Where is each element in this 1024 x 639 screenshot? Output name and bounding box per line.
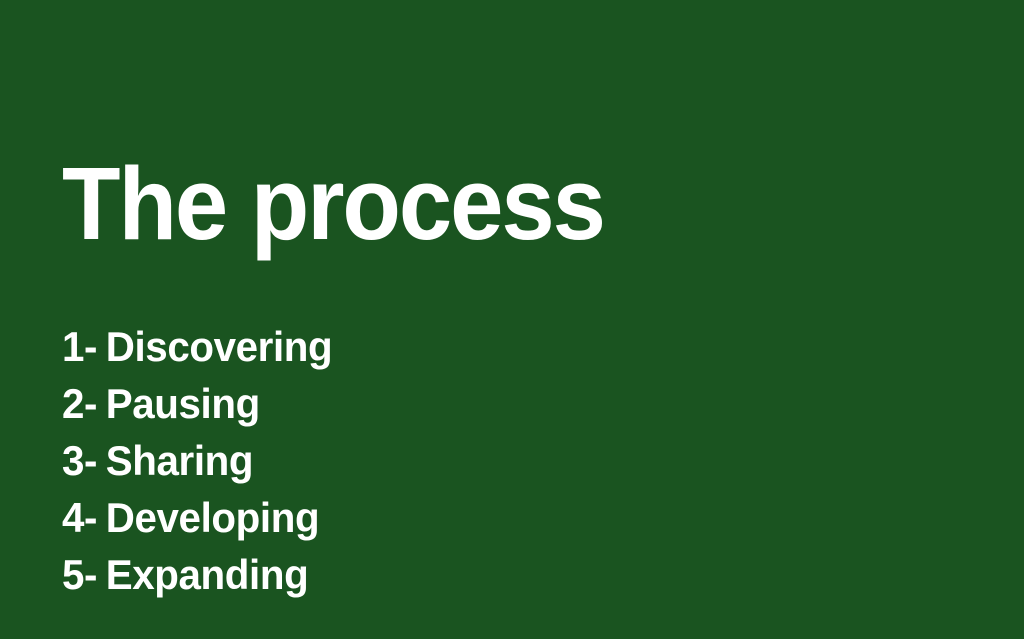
list-item: 4-Developing: [62, 489, 332, 546]
step-label: Sharing: [106, 437, 253, 484]
list-item: 3-Sharing: [62, 432, 332, 489]
list-item: 1-Discovering: [62, 318, 332, 375]
list-item: 2-Pausing: [62, 375, 332, 432]
step-number: 2-: [62, 380, 97, 427]
step-number: 1-: [62, 323, 97, 370]
step-label: Developing: [106, 494, 319, 541]
step-label: Pausing: [106, 380, 260, 427]
step-number: 5-: [62, 551, 97, 598]
step-label: Discovering: [106, 323, 333, 370]
list-item: 5-Expanding: [62, 546, 332, 603]
step-number: 4-: [62, 494, 97, 541]
page-title: The process: [62, 152, 604, 255]
presentation-slide: The process 1-Discovering 2-Pausing 3-Sh…: [0, 0, 1024, 639]
process-steps-list: 1-Discovering 2-Pausing 3-Sharing 4-Deve…: [62, 318, 344, 603]
step-label: Expanding: [106, 551, 309, 598]
step-number: 3-: [62, 437, 97, 484]
